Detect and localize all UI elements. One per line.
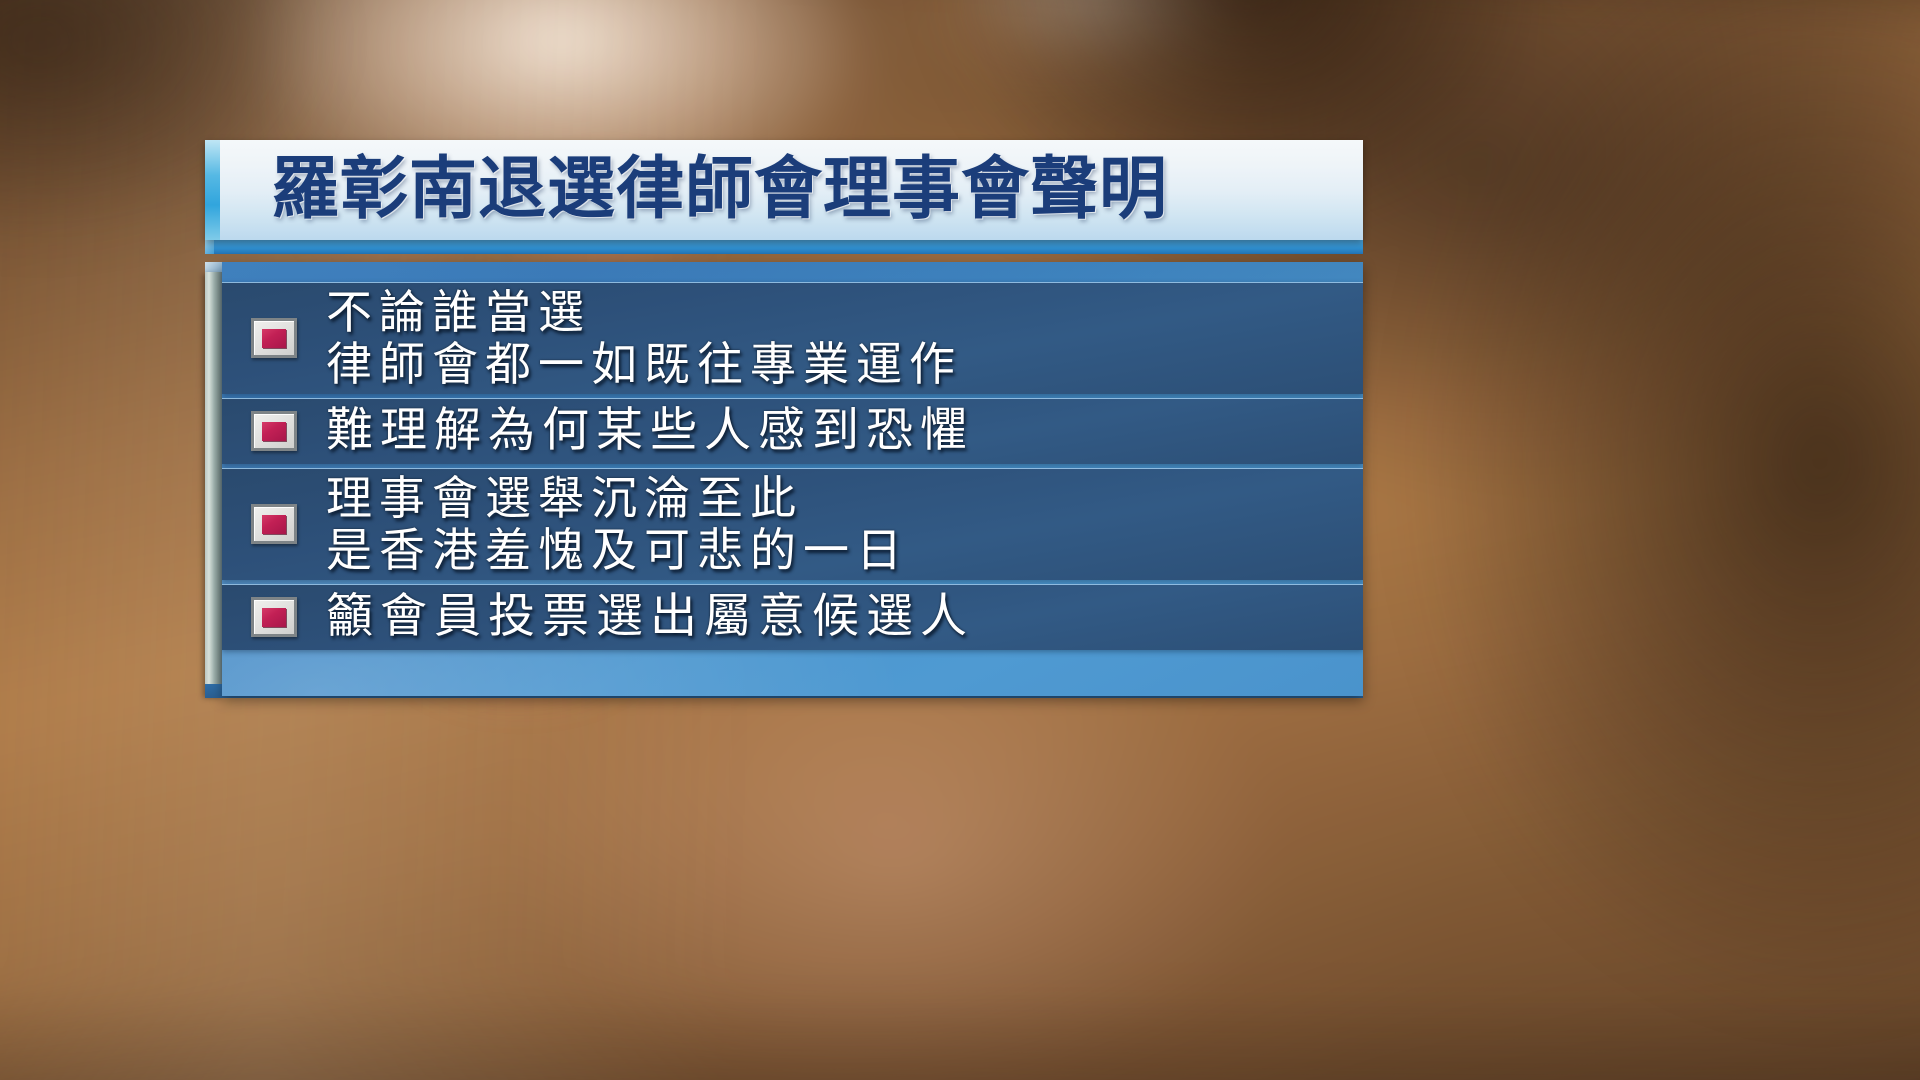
statement-line: 不論誰當選 <box>326 286 962 338</box>
statement-line: 籲會員投票選出屬意候選人 <box>326 590 974 644</box>
bullet-wrap <box>222 597 326 637</box>
statement-text: 理事會選舉沉淪至此 是香港羞愧及可悲的一日 <box>326 472 909 577</box>
square-bullet-core <box>262 608 286 627</box>
bullet-wrap <box>222 411 326 451</box>
square-bullet-core <box>262 329 286 348</box>
statement-text: 難理解為何某些人感到恐懼 <box>326 404 974 458</box>
statement-row: 難理解為何某些人感到恐懼 <box>222 398 1363 464</box>
title-bevel-tip <box>205 240 214 254</box>
square-bullet-icon <box>251 318 297 358</box>
bullet-wrap <box>222 318 326 358</box>
statement-line: 理事會選舉沉淪至此 <box>326 472 909 524</box>
headline-title: 羅彰南退選律師會理事會聲明 <box>271 156 1168 224</box>
square-bullet-core <box>262 422 286 441</box>
statement-row: 理事會選舉沉淪至此 是香港羞愧及可悲的一日 <box>222 468 1363 580</box>
headline-plate: 羅彰南退選律師會理事會聲明 <box>205 140 1363 240</box>
square-bullet-core <box>262 515 286 534</box>
statement-row: 不論誰當選 律師會都一如既往專業運作 <box>222 282 1363 394</box>
panel-left-3d-edge <box>205 272 223 696</box>
statement-text: 籲會員投票選出屬意候選人 <box>326 590 974 644</box>
statement-line: 難理解為何某些人感到恐懼 <box>326 404 974 458</box>
statement-line: 是香港羞愧及可悲的一日 <box>326 524 909 576</box>
bullet-wrap <box>222 504 326 544</box>
statement-line: 律師會都一如既往專業運作 <box>326 338 962 390</box>
statement-text: 不論誰當選 律師會都一如既往專業運作 <box>326 286 962 391</box>
square-bullet-icon <box>251 411 297 451</box>
square-bullet-icon <box>251 504 297 544</box>
statement-row: 籲會員投票選出屬意候選人 <box>222 584 1363 650</box>
headline-accent-strip <box>205 140 220 240</box>
title-bevel <box>214 240 1363 254</box>
statement-panel: 不論誰當選 律師會都一如既往專業運作 難理解為何某些人感到恐懼 理事會選舉沉淪至… <box>222 262 1363 696</box>
square-bullet-icon <box>251 597 297 637</box>
